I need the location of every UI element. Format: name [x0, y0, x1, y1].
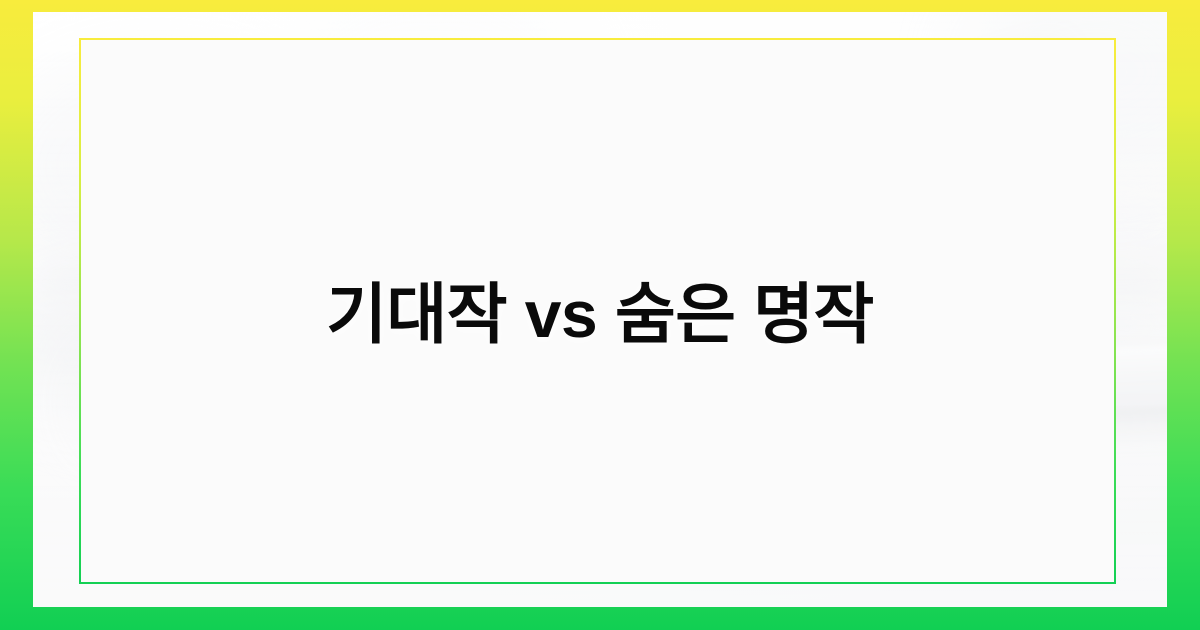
star-icon: ☆ [1002, 73, 1012, 86]
cohort-row-label: Aug 23 - Aug 29 [821, 249, 859, 261]
line-chart-stats: 482 Sessions 318 Visitors 216 [784, 172, 803, 232]
trackpad [645, 398, 802, 421]
page-title: 기대작 vs 숨은 명작 [0, 278, 1200, 352]
poster-canvas: ☆ ⋮ How many visitors came to your site? [0, 0, 1200, 630]
dots-icon: ⋮ [1022, 67, 1032, 80]
laptop: ☆ ⋮ How many visitors came to your site? [363, 12, 1167, 507]
mini-heatmap-cell [669, 351, 676, 357]
mini-heatmap-cell [653, 354, 660, 360]
keyboard [353, 357, 962, 408]
mini-heatmap-cell [661, 353, 668, 359]
cohort-table: Week 0 Week 1 Week 2 Week 3 Week 4 Week … [816, 111, 1039, 266]
stat-label: Visitors [790, 202, 801, 210]
